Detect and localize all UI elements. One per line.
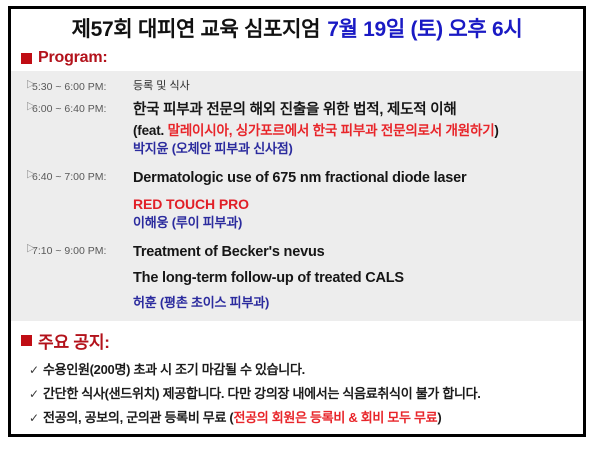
program-time-cell: 6:40 ~ 7:00 PM: [23,168,133,183]
program-row: 5:30 ~ 6:00 PM: 등록 및 식사 [11,78,583,95]
poster-frame: 제57회 대피연 교육 심포지엄 7월 19일 (토) 오후 6시 Progra… [8,6,586,437]
notice-item-text: 전공의, 공보의, 군의관 등록비 무료 (전공의 회원은 등록비 & 회비 모… [43,409,441,427]
program-line-description: 등록 및 식사 [133,78,577,95]
title-main-text: 제57회 대피연 교육 심포지엄 [72,13,321,43]
program-line-product: RED TOUCH PRO [133,194,577,214]
program-time-label: 6:40 ~ 7:00 PM: [32,171,106,183]
notice-panel: 주요 공지: ✓ 수용인원(200명) 초과 시 조기 마감될 수 있습니다. … [11,321,583,427]
program-time-cell: 7:10 ~ 9:00 PM: [23,242,133,257]
program-row: 7:10 ~ 9:00 PM: Treatment of Becker's ne… [11,242,583,313]
notice-suffix: ) [437,410,441,425]
program-detail-cell: Treatment of Becker's nevus The long-ter… [133,242,577,313]
title-date-text: 7월 19일 (토) 오후 6시 [327,13,522,43]
notice-list-item: ✓ 간단한 식사(샌드위치) 제공합니다. 다만 강의장 내에서는 식음료취식이… [11,385,583,403]
red-square-bullet-icon [21,335,32,346]
notice-list-item: ✓ 전공의, 공보의, 군의관 등록비 무료 (전공의 회원은 등록비 & 회비… [11,409,583,427]
program-heading-label: Program: [38,49,108,67]
red-square-bullet-icon [21,53,32,64]
program-row: 6:40 ~ 7:00 PM: Dermatologic use of 675 … [11,168,583,233]
program-detail-cell: 한국 피부과 전문의 해외 진출을 위한 법적, 제도적 이해 (feat. 말… [133,100,577,159]
program-line-topic: The long-term follow-up of treated CALS [133,268,577,289]
program-line-topic: Treatment of Becker's nevus [133,242,577,263]
triangle-right-icon [23,248,28,256]
poster-title: 제57회 대피연 교육 심포지엄 7월 19일 (토) 오후 6시 [11,9,583,45]
program-line-topic: 한국 피부과 전문의 해외 진출을 위한 법적, 제도적 이해 [133,100,577,121]
notice-item-text: 간단한 식사(샌드위치) 제공합니다. 다만 강의장 내에서는 식음료취식이 불… [43,385,481,403]
notice-list-item: ✓ 수용인원(200명) 초과 시 조기 마감될 수 있습니다. [11,361,583,379]
program-detail-cell: 등록 및 식사 [133,78,577,95]
triangle-right-icon [23,174,28,182]
program-time-cell: 5:30 ~ 6:00 PM: [23,78,133,93]
notice-prefix: 전공의, 공보의, 군의관 등록비 무료 ( [43,410,233,425]
row-spacer [11,159,583,168]
check-icon: ✓ [29,409,43,427]
notice-heading-label: 주요 공지: [38,328,110,353]
check-icon: ✓ [29,361,43,379]
program-panel: 5:30 ~ 6:00 PM: 등록 및 식사 6:00 ~ 6:40 PM: … [11,71,583,321]
program-line-speaker: 박지윤 (오체안 피부과 신사점) [133,140,577,159]
row-spacer [11,233,583,242]
program-heading: Program: [11,45,583,71]
notice-item-text: 수용인원(200명) 초과 시 조기 마감될 수 있습니다. [43,361,305,379]
program-detail-cell: Dermatologic use of 675 nm fractional di… [133,168,577,233]
program-row: 6:00 ~ 6:40 PM: 한국 피부과 전문의 해외 진출을 위한 법적,… [11,100,583,159]
notice-highlight: 전공의 회원은 등록비 & 회비 모두 무료 [233,410,437,425]
program-line-speaker: 허훈 (평촌 초이스 피부과) [133,294,577,313]
feat-prefix: (feat. [133,123,168,138]
notice-heading: 주요 공지: [11,327,583,355]
program-line-topic: Dermatologic use of 675 nm fractional di… [133,168,577,189]
program-line-feat: (feat. 말레이시아, 싱가포르에서 한국 피부과 전문의로서 개원하기) [133,121,577,141]
program-time-label: 7:10 ~ 9:00 PM: [32,245,106,257]
program-time-label: 5:30 ~ 6:00 PM: [32,81,106,93]
triangle-right-icon [23,106,28,114]
check-icon: ✓ [29,385,43,403]
feat-suffix: ) [494,123,498,138]
triangle-right-icon [23,84,28,92]
program-line-speaker: 이해웅 (루이 피부과) [133,214,577,233]
program-time-cell: 6:00 ~ 6:40 PM: [23,100,133,115]
feat-highlight: 말레이시아, 싱가포르에서 한국 피부과 전문의로서 개원하기 [168,123,495,138]
program-time-label: 6:00 ~ 6:40 PM: [32,103,106,115]
